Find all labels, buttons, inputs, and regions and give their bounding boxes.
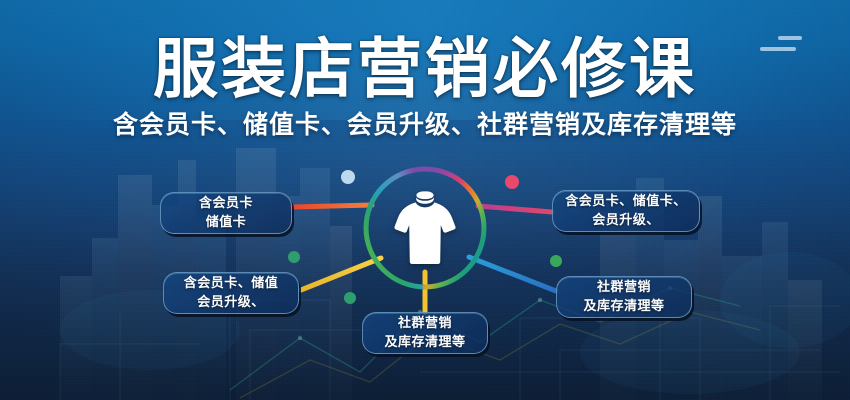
callout-top-right-line1: 含会员卡、储值卡、 [565, 192, 687, 211]
callout-top-right[interactable]: 含会员卡、储值卡、 会员升级、 [552, 190, 700, 232]
callout-middle-left-line2: 会员升级、 [197, 293, 265, 312]
dot-green-left [288, 251, 300, 263]
callout-middle-left[interactable]: 含会员卡、储值 会员升级、 [163, 272, 299, 314]
callout-top-left[interactable]: 含会员卡 储值卡 [160, 192, 292, 234]
dash-mark-bottom [760, 47, 796, 51]
callout-middle-left-line1: 含会员卡、储值 [184, 274, 279, 293]
connector-top-left [292, 205, 372, 207]
dot-light-blue [341, 170, 355, 184]
dot-pink [505, 175, 519, 189]
callout-top-left-line1: 含会员卡 [199, 194, 253, 213]
connector-middle-right [469, 257, 556, 291]
page-subtitle: 含会员卡、储值卡、会员升级、社群营销及库存清理等 [0, 113, 850, 138]
banner-root: 服装店营销必修课 含会员卡、储值卡、会员升级、社群营销及库存清理等 [0, 0, 850, 400]
shirt-icon [393, 186, 457, 270]
callout-middle-right[interactable]: 社群营销 及库存清理等 [556, 276, 692, 318]
dash-mark-top [778, 36, 802, 40]
callout-bottom-center-line1: 社群营销 [398, 314, 452, 333]
callout-bottom-center[interactable]: 社群营销 及库存清理等 [362, 312, 488, 354]
headline-block: 服装店营销必修课 含会员卡、储值卡、会员升级、社群营销及库存清理等 [0, 36, 850, 138]
callout-bottom-center-line2: 及库存清理等 [384, 333, 465, 352]
dot-green-lower [344, 292, 356, 304]
connector-middle-left [301, 258, 381, 290]
callout-top-left-line2: 储值卡 [206, 213, 247, 232]
page-title: 服装店营销必修课 [0, 36, 850, 101]
callout-top-right-line2: 会员升级、 [592, 211, 660, 230]
dot-green-right [550, 255, 562, 267]
connector-top-right [478, 206, 552, 212]
callout-middle-right-line1: 社群营销 [597, 278, 651, 297]
callout-middle-right-line2: 及库存清理等 [583, 297, 664, 316]
corner-dash-decoration [760, 36, 802, 51]
